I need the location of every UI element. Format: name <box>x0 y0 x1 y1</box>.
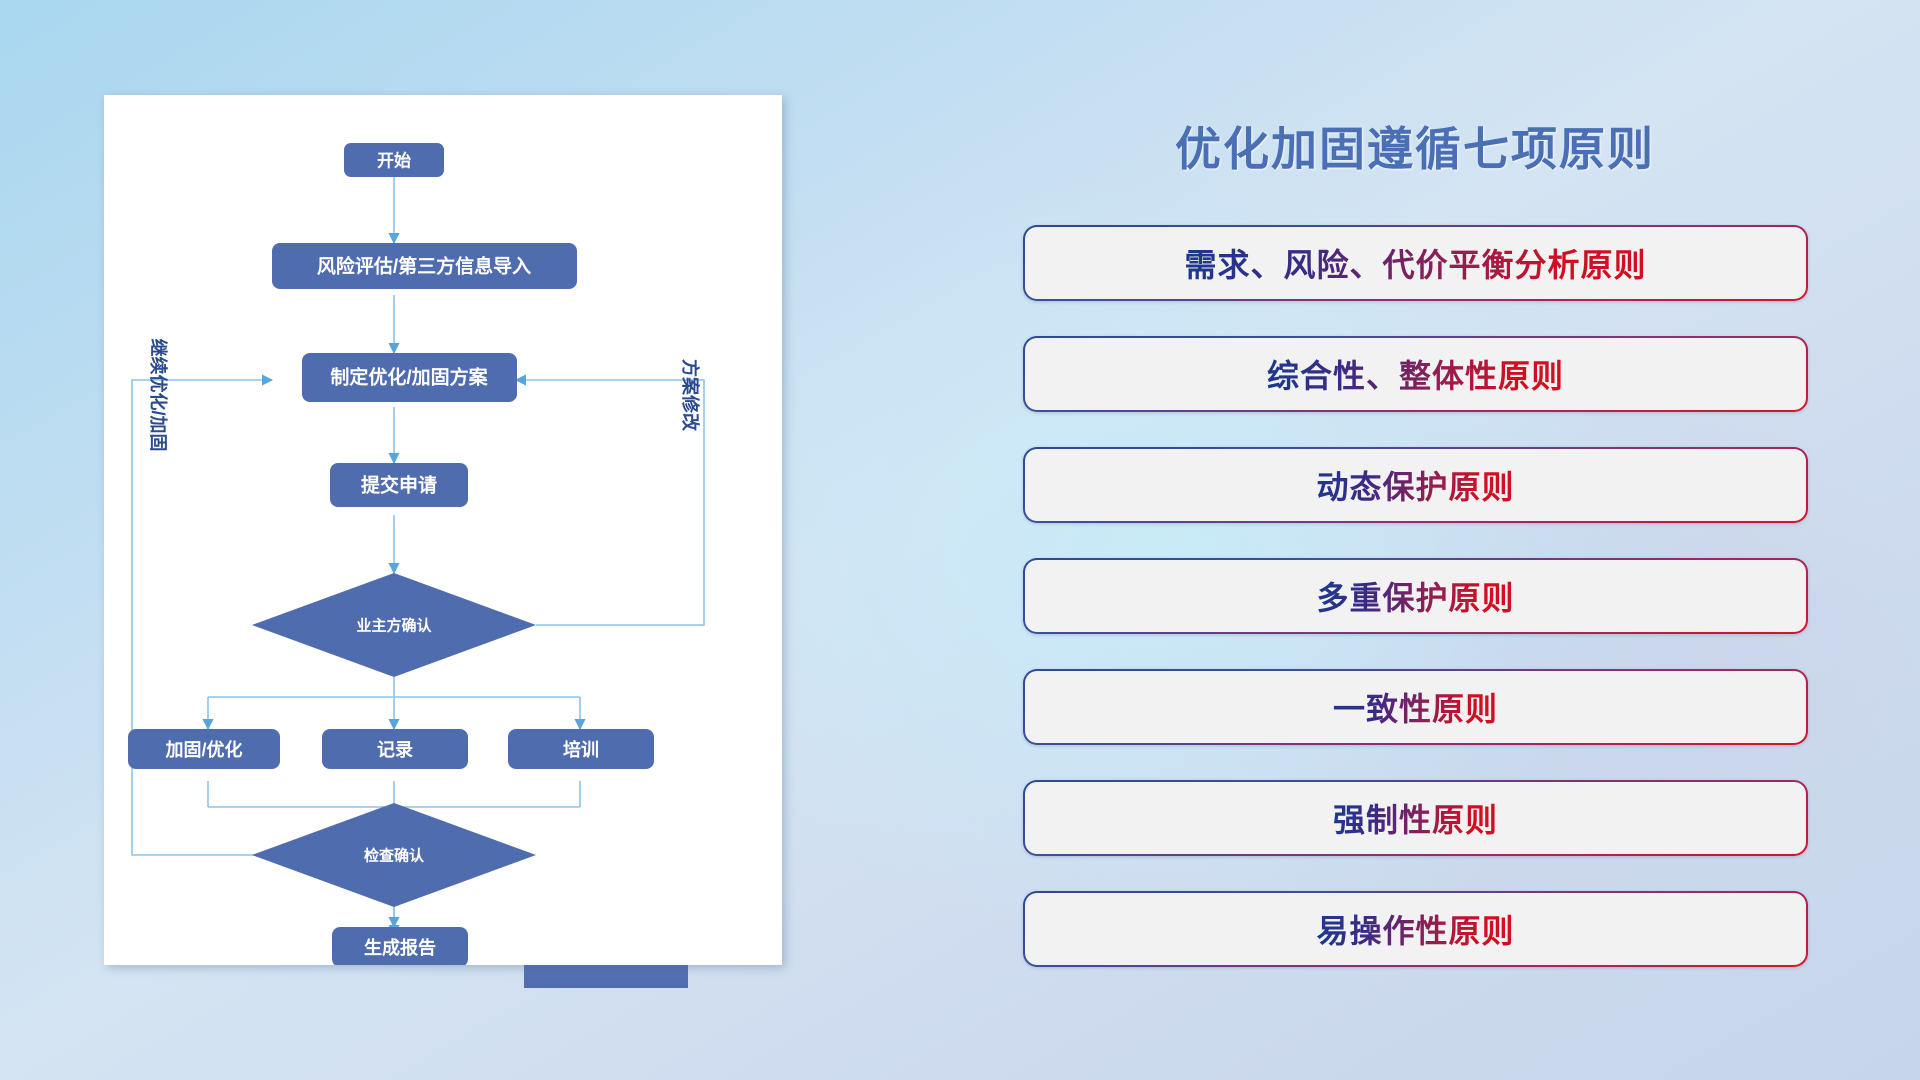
principle-card[interactable]: 综合性、整体性原则 <box>1023 336 1808 412</box>
flow-node-submit-label: 提交申请 <box>361 474 437 497</box>
flow-node-report-label: 生成报告 <box>364 937 436 958</box>
flow-node-owner-confirm[interactable]: 业主方确认 <box>252 573 536 677</box>
principle-card-inner: 一致性原则 <box>1025 671 1806 743</box>
flow-node-record[interactable]: 记录 <box>322 729 468 769</box>
flow-node-risk-assessment-label: 风险评估/第三方信息导入 <box>317 255 531 278</box>
principle-card-inner: 强制性原则 <box>1025 782 1806 854</box>
flow-node-start-label: 开始 <box>377 151 411 171</box>
principle-card-label: 综合性、整体性原则 <box>1267 351 1564 397</box>
principle-card-inner: 需求、风险、代价平衡分析原则 <box>1025 227 1806 299</box>
principle-card-label: 动态保护原则 <box>1316 462 1514 508</box>
principles-card-list: 需求、风险、代价平衡分析原则 综合性、整体性原则 动态保护原则 多重保护原则 <box>1023 225 1808 967</box>
flow-node-check-confirm-label: 检查确认 <box>364 847 425 865</box>
flow-node-report[interactable]: 生成报告 <box>332 927 468 965</box>
slide-canvas: 开始 风险评估/第三方信息导入 制定优化/加固方案 提交申请 业主方确认 <box>0 0 1920 1080</box>
flow-node-plan[interactable]: 制定优化/加固方案 <box>302 353 517 402</box>
principle-card-label: 需求、风险、代价平衡分析原则 <box>1184 240 1646 286</box>
principle-card[interactable]: 一致性原则 <box>1023 669 1808 745</box>
principle-card-label: 多重保护原则 <box>1316 573 1514 619</box>
edge-label-continue-optimize: 继续优化/加固 <box>148 338 169 451</box>
edge-label-plan-revise: 方案修改 <box>680 359 701 432</box>
principle-card[interactable]: 强制性原则 <box>1023 780 1808 856</box>
principle-card-inner: 多重保护原则 <box>1025 560 1806 632</box>
principle-card[interactable]: 动态保护原则 <box>1023 447 1808 523</box>
principle-card-inner: 动态保护原则 <box>1025 449 1806 521</box>
flow-node-record-label: 记录 <box>377 740 413 760</box>
flowchart-diagram: 开始 风险评估/第三方信息导入 制定优化/加固方案 提交申请 业主方确认 <box>104 95 782 965</box>
principle-card[interactable]: 多重保护原则 <box>1023 558 1808 634</box>
flowchart-card: 开始 风险评估/第三方信息导入 制定优化/加固方案 提交申请 业主方确认 <box>104 95 782 965</box>
edge-owner-plan-revise <box>516 380 704 625</box>
flow-node-reinforce-label: 加固/优化 <box>164 739 242 760</box>
principle-card-inner: 综合性、整体性原则 <box>1025 338 1806 410</box>
principles-panel: 优化加固遵循七项原则 需求、风险、代价平衡分析原则 综合性、整体性原则 动态保护… <box>1020 95 1810 1005</box>
flow-node-check-confirm[interactable]: 检查确认 <box>252 803 536 907</box>
principle-card-inner: 易操作性原则 <box>1025 893 1806 965</box>
flow-node-start[interactable]: 开始 <box>344 143 444 177</box>
principle-card-label: 易操作性原则 <box>1316 906 1514 952</box>
flow-node-owner-confirm-label: 业主方确认 <box>356 617 432 635</box>
principles-panel-title: 优化加固遵循七项原则 <box>1020 113 1810 179</box>
principle-card-label: 强制性原则 <box>1333 795 1498 841</box>
principle-card-label: 一致性原则 <box>1333 684 1498 730</box>
flow-node-training-label: 培训 <box>563 739 599 760</box>
flow-node-reinforce[interactable]: 加固/优化 <box>128 729 280 769</box>
flow-node-training[interactable]: 培训 <box>508 729 654 769</box>
principle-card[interactable]: 易操作性原则 <box>1023 891 1808 967</box>
flow-node-plan-label: 制定优化/加固方案 <box>330 366 488 389</box>
flow-node-risk-assessment[interactable]: 风险评估/第三方信息导入 <box>272 243 577 289</box>
flow-node-submit[interactable]: 提交申请 <box>330 463 468 507</box>
principle-card[interactable]: 需求、风险、代价平衡分析原则 <box>1023 225 1808 301</box>
